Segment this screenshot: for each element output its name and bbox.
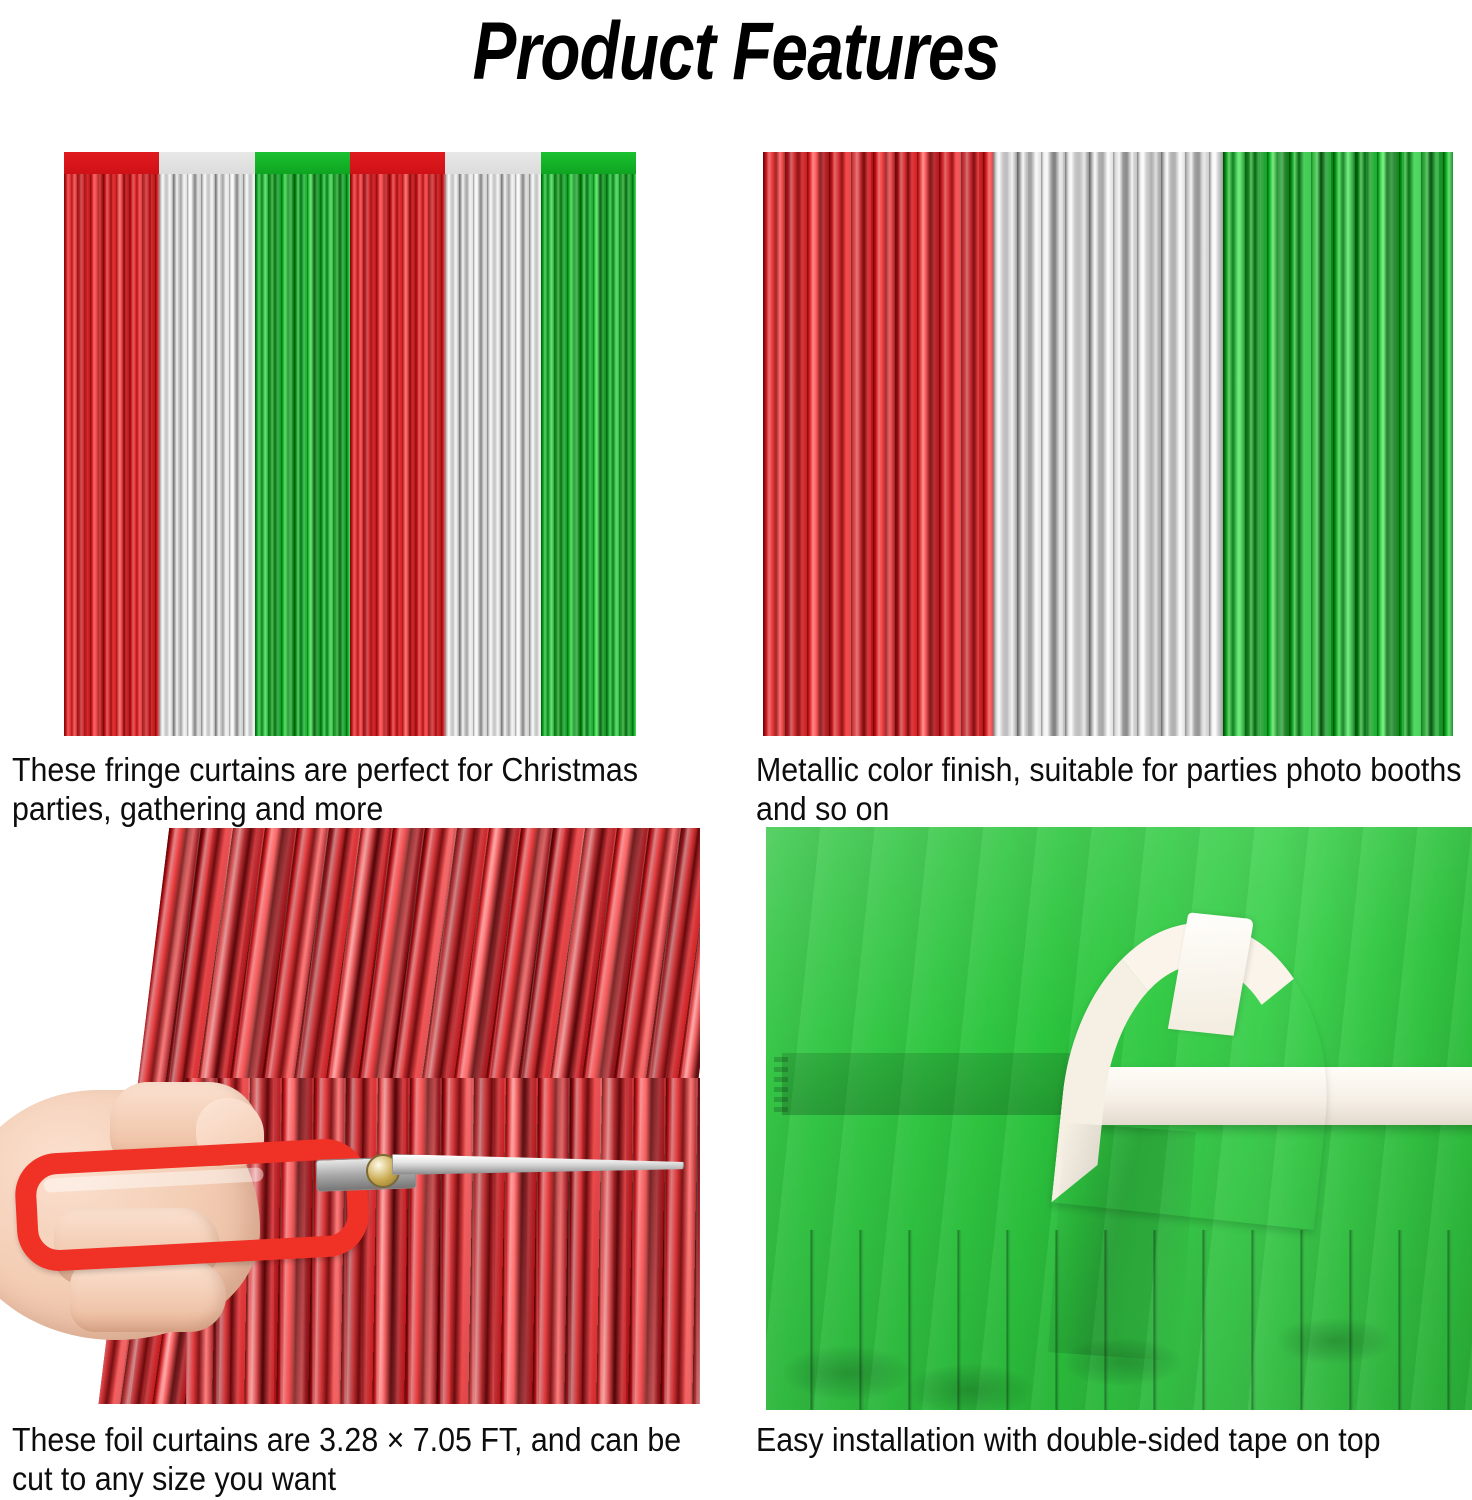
curtain-panel-silver-2 <box>445 152 540 736</box>
feature-block-3: These foil curtains are 3.28 × 7.05 FT, … <box>0 824 736 1500</box>
foil-ripple <box>1276 1318 1392 1364</box>
panel-header-band-green <box>541 152 636 174</box>
fringe-texture-silver <box>159 152 254 736</box>
panel-header-band-red <box>64 152 159 174</box>
fringe-texture-red <box>64 152 159 736</box>
curtain-panel-green-2 <box>541 152 636 736</box>
closeup-band-row <box>763 152 1453 736</box>
scissors-cutting-curtain-photo <box>0 828 700 1404</box>
curtain-panel-silver-1 <box>159 152 254 736</box>
tape-adhesive-residue-strip <box>782 1053 1092 1115</box>
foil-ripple <box>1062 1338 1182 1386</box>
closeup-band-red <box>763 152 993 736</box>
metallic-closeup-photo <box>763 152 1453 736</box>
feature-block-1: These fringe curtains are perfect for Ch… <box>0 140 736 830</box>
panel-header-band-silver <box>445 152 540 174</box>
feature-caption-1: These fringe curtains are perfect for Ch… <box>12 750 693 828</box>
foil-ripple <box>906 1364 1034 1410</box>
feature-block-4: Easy installation with double-sided tape… <box>736 824 1472 1500</box>
curtain-panel-red-1 <box>64 152 159 736</box>
curtain-panel-green-1 <box>255 152 350 736</box>
fringe-texture-green <box>541 152 636 736</box>
feature-caption-2: Metallic color finish, suitable for part… <box>756 750 1464 828</box>
fringe-texture-green <box>255 152 350 736</box>
fringe-curtain-set-photo <box>64 152 636 736</box>
double-sided-tape-photo <box>766 827 1472 1410</box>
panel-header-band-green <box>255 152 350 174</box>
closeup-band-green <box>1223 152 1453 736</box>
closeup-band-silver <box>993 152 1223 736</box>
page-title: Product Features <box>147 4 1325 100</box>
panel-header-band-red <box>350 152 445 174</box>
fringe-texture-red <box>350 152 445 736</box>
foil-ripple <box>782 1346 912 1400</box>
ring-finger <box>70 1260 226 1332</box>
curtain-panel-row <box>64 152 636 736</box>
curtain-panel-red-2 <box>350 152 445 736</box>
fringe-texture-silver <box>445 152 540 736</box>
feature-caption-4: Easy installation with double-sided tape… <box>756 1420 1472 1459</box>
feature-caption-3: These foil curtains are 3.28 × 7.05 FT, … <box>12 1420 711 1498</box>
feature-block-2: Metallic color finish, suitable for part… <box>736 140 1472 830</box>
scissors-handle <box>13 1137 371 1273</box>
panel-header-band-silver <box>159 152 254 174</box>
